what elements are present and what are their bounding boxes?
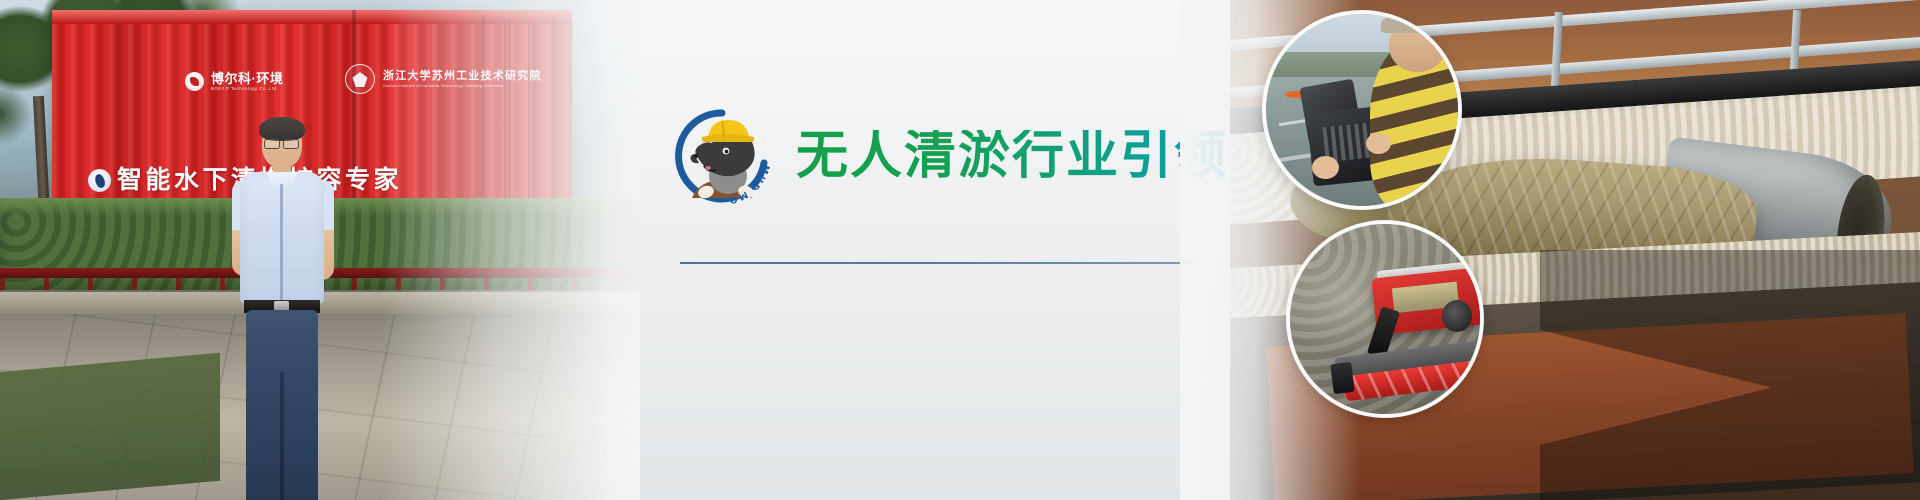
container-brand-lockup: 博尔科·环境 BOEF.P Technology Co.,Ltd. [185, 72, 283, 92]
slogan-badge-icon [88, 169, 111, 192]
figure-hair [259, 117, 305, 141]
figure-glasses-right [283, 139, 299, 149]
brand-name-cn: 博尔科·环境 [211, 72, 283, 85]
brand-name-en: BOEF.P Technology Co.,Ltd. [211, 87, 283, 92]
brand-logo-icon [185, 72, 204, 91]
operator-with-control-console-photo [1262, 10, 1462, 210]
cp1-operator-hand-left [1312, 156, 1339, 179]
cp1-operator-cap [1381, 14, 1442, 33]
grass-strip [0, 353, 220, 500]
university-seal-icon [345, 64, 375, 94]
headline-row: MUD MOLE 无人清淤行业引领者 [670, 104, 1230, 208]
figure-glasses-left [264, 139, 280, 149]
red-dredging-robot-photo [1286, 220, 1484, 418]
left-photo-fade-mask [380, 0, 640, 500]
left-photo: 博尔科·环境 BOEF.P Technology Co.,Ltd. 浙江大学苏州… [0, 0, 640, 500]
divider [680, 262, 1200, 264]
engineer-figure [228, 120, 336, 500]
figure-jeans-seam [280, 372, 284, 500]
hero-banner: 博尔科·环境 BOEF.P Technology Co.,Ltd. 浙江大学苏州… [0, 0, 1920, 500]
mud-mole-logo: MUD MOLE [670, 104, 774, 208]
figure-shirt-placket [280, 184, 283, 300]
cp2-auger-endcap [1330, 362, 1354, 395]
center-content: MUD MOLE 无人清淤行业引领者 [640, 0, 1260, 500]
cp1-operator-hand-right [1366, 133, 1391, 154]
